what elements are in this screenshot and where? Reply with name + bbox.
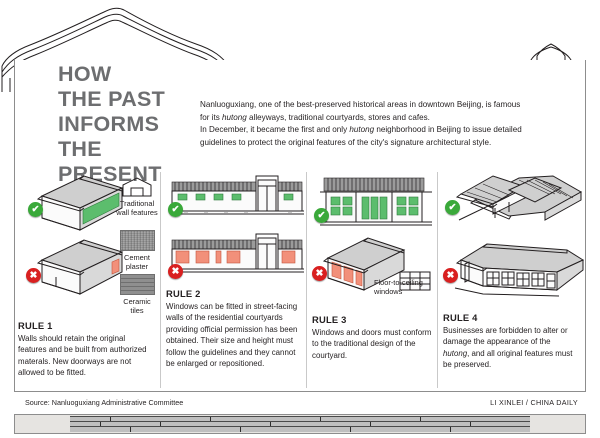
swatch-label-line-2: wall features [116, 208, 158, 217]
column-divider-1 [160, 172, 161, 388]
swatch-label-cement: Cement plaster [116, 253, 158, 272]
cross-badge-rule4: ✖ [443, 268, 458, 283]
column-divider-3 [437, 172, 438, 388]
callout-line-2: windows [374, 287, 434, 296]
infographic-page: HOW THE PAST INFORMS THE PRESENT Nanluog… [0, 0, 600, 438]
swatch-traditional-wall: Traditional wall features [116, 176, 158, 218]
check-badge-rule3: ✔ [314, 208, 329, 223]
intro-line-1: Nanluoguxiang, one of the best-preserved… [200, 99, 540, 112]
rule-2-body: Windows can be fitted in street-facing w… [166, 301, 300, 369]
wall-elevation-approved [170, 174, 304, 226]
intro-line-4: guidelines to protect the original featu… [200, 137, 540, 150]
intro-paragraph: Nanluoguxiang, one of the best-preserved… [200, 99, 540, 149]
brick-courses [70, 416, 530, 432]
check-badge-rule4: ✔ [445, 200, 460, 215]
brick-base-band [14, 414, 586, 434]
check-badge-rule2: ✔ [168, 202, 183, 217]
rule-1-body: Walls should retain the original feature… [18, 333, 150, 379]
cross-badge-rule1: ✖ [26, 268, 41, 283]
swatch-cement-plaster: Cement plaster [116, 230, 158, 272]
rule-3-column: ✔ ✖ [312, 172, 436, 388]
courtyard-illustration-approved [449, 172, 585, 238]
intro-line-2: for its hutong alleyways, traditional co… [200, 112, 540, 125]
gable-house-icon [120, 176, 154, 198]
column-divider-2 [306, 172, 307, 388]
swatch-label-line-1: Traditional [116, 199, 158, 208]
check-badge-rule1: ✔ [28, 202, 43, 217]
source-attribution: Source: Nanluoguxiang Administrative Com… [25, 398, 183, 407]
brick-row [70, 426, 530, 432]
ceramic-tiles-swatch [120, 274, 155, 295]
page-title: HOW THE PAST INFORMS THE PRESENT [58, 62, 208, 187]
cross-badge-rule2: ✖ [168, 264, 183, 279]
title-line-2: THE PAST [58, 87, 208, 112]
swatch-ceramic-tiles: Ceramic tiles [116, 274, 158, 316]
rule-1-title: RULE 1 [18, 320, 150, 331]
wall-elevation-rejected [170, 232, 304, 284]
rule-4-title: RULE 4 [443, 312, 579, 323]
rule-2-column: ✔ ✖ [166, 172, 304, 388]
cement-plaster-swatch [120, 230, 155, 251]
rule-1-column: ✔ ✖ Trad [18, 172, 158, 388]
facade-illustration-approved [318, 174, 434, 236]
rule-3-title: RULE 3 [312, 314, 432, 325]
courtyard-illustration-rejected [447, 236, 587, 298]
credit-line: LI XINLEI / CHINA DAILY [490, 398, 578, 407]
rule-4-body: Businesses are forbidden to alter or dam… [443, 325, 579, 371]
title-line-1: HOW [58, 62, 208, 87]
intro-line-3: In December, it became the first and onl… [200, 124, 540, 137]
floor-to-ceiling-callout: Floor-to-ceiling windows [374, 278, 434, 297]
title-line-3: INFORMS [58, 112, 208, 137]
rule-3-body: Windows and doors must conform to the tr… [312, 327, 432, 361]
rule-2-title: RULE 2 [166, 288, 300, 299]
swatch-label-ceramic: Ceramic tiles [116, 297, 158, 316]
callout-line-1: Floor-to-ceiling [374, 278, 434, 287]
cross-badge-rule3: ✖ [312, 266, 327, 281]
rule-4-column: ✔ ✖ [443, 172, 583, 388]
